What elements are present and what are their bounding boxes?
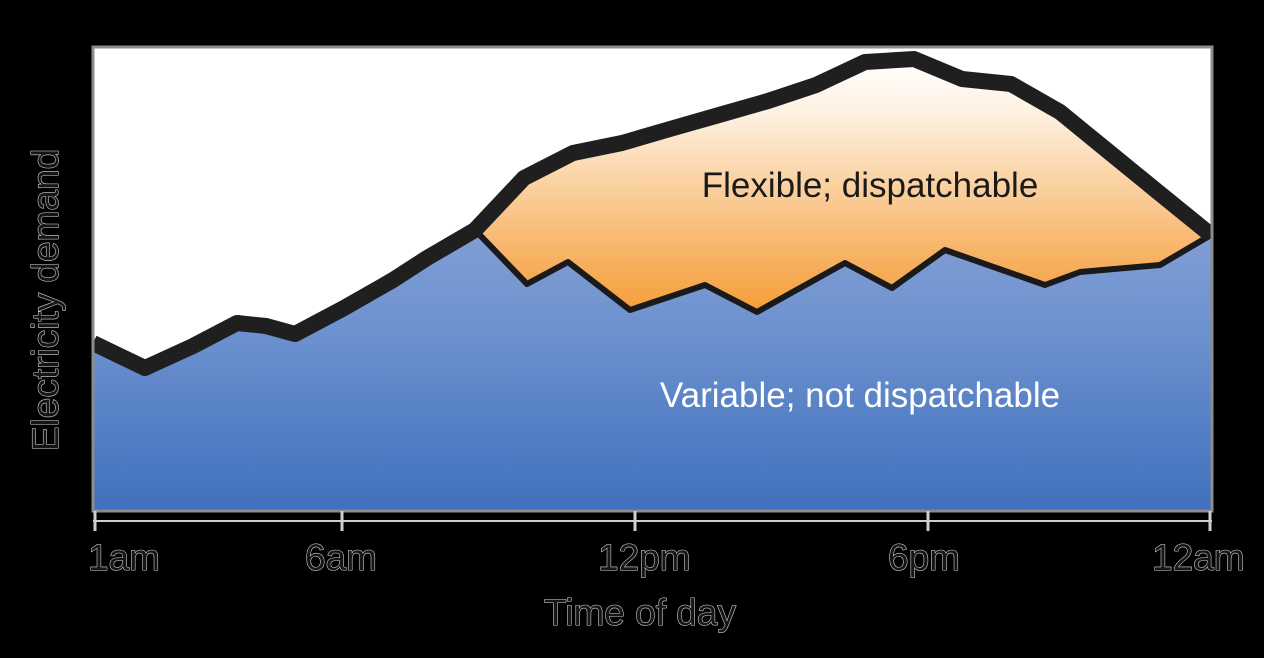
flexible-dispatchable-annotation: Flexible; dispatchable xyxy=(702,166,1039,205)
variable-not-dispatchable-annotation: Variable; not dispatchable xyxy=(660,376,1060,415)
x-axis-title: Time of day xyxy=(544,592,736,633)
electricity-demand-area-chart: 1am 6am 12pm 6pm 12am Time of day Electr… xyxy=(0,0,1264,658)
x-tick-label-6am: 6am xyxy=(305,537,377,578)
x-tick-label-12am: 12am xyxy=(1152,537,1245,578)
x-tick-label-6pm: 6pm xyxy=(888,537,960,578)
chart-figure: 1am 6am 12pm 6pm 12am Time of day Electr… xyxy=(0,0,1264,658)
x-tick-label-1am: 1am xyxy=(88,537,160,578)
x-tick-label-12pm: 12pm xyxy=(598,537,691,578)
y-axis-title: Electricity demand xyxy=(25,149,66,451)
